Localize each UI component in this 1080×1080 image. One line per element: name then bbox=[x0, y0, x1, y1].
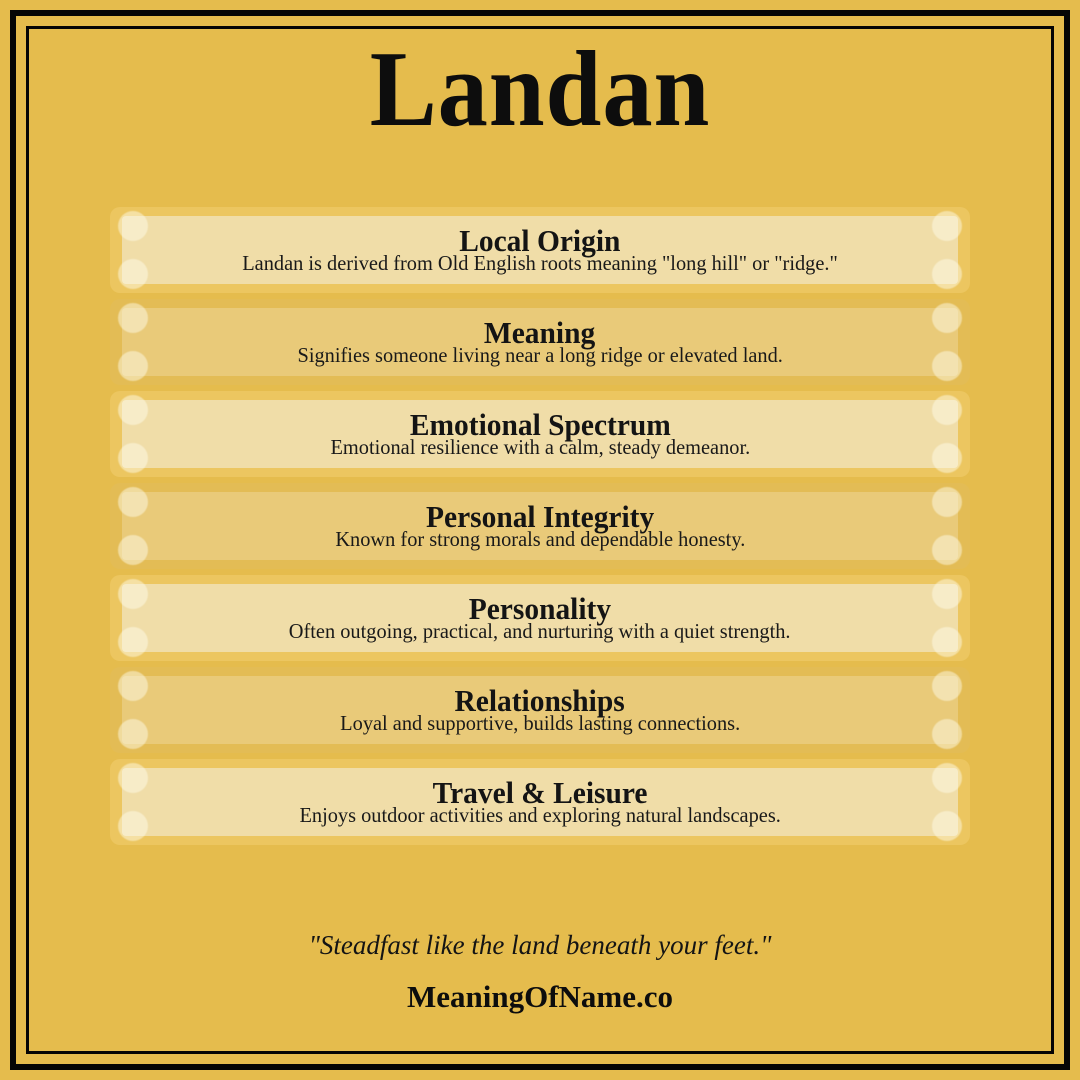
card-body: Known for strong morals and dependable h… bbox=[335, 529, 745, 550]
attribute-card: RelationshipsLoyal and supportive, build… bbox=[110, 667, 970, 753]
footer-quote: "Steadfast like the land beneath your fe… bbox=[0, 930, 1080, 961]
name-meaning-poster: Landan Local OriginLandan is derived fro… bbox=[0, 0, 1080, 1080]
card-body: Signifies someone living near a long rid… bbox=[297, 345, 782, 366]
footer-brand: MeaningOfName.co bbox=[0, 979, 1080, 1015]
page-title: Landan bbox=[38, 36, 1042, 144]
attribute-card: Travel & LeisureEnjoys outdoor activitie… bbox=[110, 759, 970, 845]
card-text: Local OriginLandan is derived from Old E… bbox=[134, 207, 946, 293]
card-text: Personal IntegrityKnown for strong moral… bbox=[134, 483, 946, 569]
attribute-card: Emotional SpectrumEmotional resilience w… bbox=[110, 391, 970, 477]
attribute-card: MeaningSignifies someone living near a l… bbox=[110, 299, 970, 385]
card-text: PersonalityOften outgoing, practical, an… bbox=[134, 575, 946, 661]
card-text: Emotional SpectrumEmotional resilience w… bbox=[134, 391, 946, 477]
card-text: RelationshipsLoyal and supportive, build… bbox=[134, 667, 946, 753]
attribute-card: PersonalityOften outgoing, practical, an… bbox=[110, 575, 970, 661]
footer: "Steadfast like the land beneath your fe… bbox=[0, 930, 1080, 1015]
card-body: Often outgoing, practical, and nurturing… bbox=[289, 621, 791, 642]
attribute-card: Local OriginLandan is derived from Old E… bbox=[110, 207, 970, 293]
attribute-card: Personal IntegrityKnown for strong moral… bbox=[110, 483, 970, 569]
poster-content: Landan Local OriginLandan is derived fro… bbox=[0, 0, 1080, 1080]
attribute-card-list: Local OriginLandan is derived from Old E… bbox=[110, 207, 970, 851]
card-body: Emotional resilience with a calm, steady… bbox=[330, 437, 750, 458]
card-body: Loyal and supportive, builds lasting con… bbox=[340, 713, 740, 734]
card-text: Travel & LeisureEnjoys outdoor activitie… bbox=[134, 759, 946, 845]
card-body: Enjoys outdoor activities and exploring … bbox=[299, 805, 780, 826]
card-text: MeaningSignifies someone living near a l… bbox=[134, 299, 946, 385]
card-body: Landan is derived from Old English roots… bbox=[242, 253, 838, 274]
